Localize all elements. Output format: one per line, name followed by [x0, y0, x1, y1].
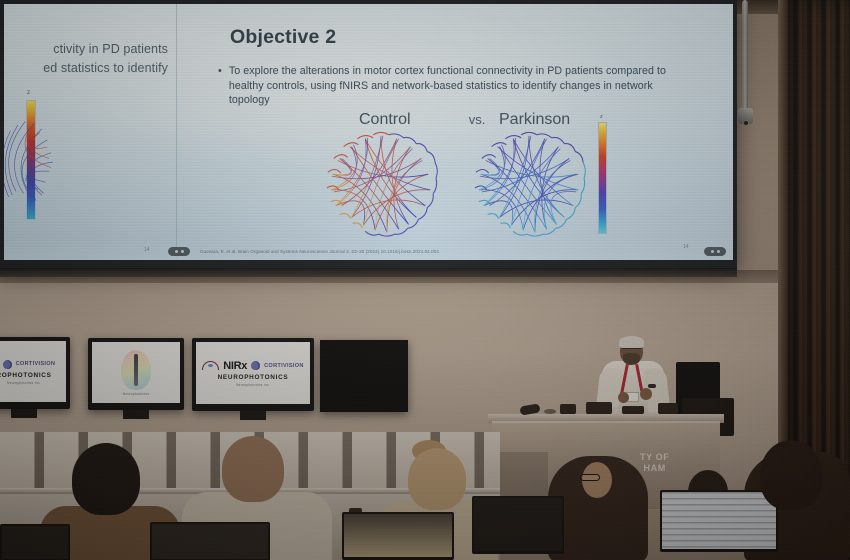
bullet-dot-icon: • — [218, 64, 222, 108]
monitor-right-brandrow: NIRx CORTIVISION — [202, 360, 304, 372]
slide-nav-prev-icon[interactable] — [168, 247, 190, 256]
monitor-left-panel: x CORTIVISION ROPHOTONICS Neurophotonics… — [0, 341, 66, 402]
label-parkinson: Parkinson — [499, 111, 589, 129]
monitor-right-caption: Neurophotonics Inc. — [236, 383, 270, 387]
audience-person-a-head — [72, 443, 140, 515]
colorbar-label: z — [600, 114, 603, 120]
colorbar-jet — [598, 122, 607, 234]
laptop-screen-faredge — [2, 526, 68, 559]
slide-bullet: • To explore the alterations in motor co… — [218, 64, 688, 108]
monitor-blank-dark — [320, 340, 408, 412]
nirx-logo-icon — [202, 361, 219, 370]
desk-cup — [612, 407, 619, 414]
monitor-right-neurophotonics: NEUROPHOTONICS — [218, 374, 289, 381]
slide-citation: Guevara, E. et al. Brain Organoid and Sy… — [200, 249, 439, 254]
monitor-center: Neurophotonics — [88, 338, 184, 410]
monitor-right-cortivision: CORTIVISION — [264, 363, 304, 369]
audience-person-c-head — [408, 448, 466, 510]
desk-device-1 — [560, 404, 576, 414]
presentation-slide: ctivity in PD patients ed statistics to … — [4, 4, 733, 260]
monitor-right-stand — [240, 411, 266, 420]
ghost-connectogram — [4, 114, 62, 210]
presenter-hand-right — [640, 388, 652, 400]
audience-laptop-midleft[interactable] — [342, 512, 454, 560]
projection-screen-frame: ctivity in PD patients ed statistics to … — [0, 0, 737, 268]
cortivision-brain-icon — [3, 360, 12, 369]
ghost-line-2: ed statistics to identify — [4, 59, 168, 78]
monitor-right-nirx: NIRx — [223, 360, 247, 372]
desk-cable-coil — [544, 409, 556, 414]
lecture-hall-photo: ctivity in PD patients ed statistics to … — [0, 0, 850, 560]
desk-device-4 — [658, 403, 678, 414]
brain-logo-icon — [121, 350, 151, 390]
presenter-watch — [648, 384, 656, 388]
connectogram-parkinson — [470, 130, 588, 240]
ghost-line-1: ctivity in PD patients — [4, 40, 168, 59]
slide-page-number-right: 14 — [683, 244, 689, 250]
label-control: Control — [359, 111, 455, 129]
slide-title: Objective 2 — [230, 26, 336, 49]
presenter-hand-left — [618, 392, 629, 403]
monitor-center-panel: Neurophotonics — [92, 342, 180, 403]
presenter-glasses-icon — [622, 348, 641, 352]
audience-laptop-faredge[interactable] — [0, 524, 70, 560]
monitor-center-caption: Neurophotonics — [123, 392, 150, 396]
slide-nav-next-icon[interactable] — [704, 247, 726, 256]
audience-laptop-left[interactable] — [150, 522, 270, 560]
desk-device-3 — [622, 406, 644, 414]
audience-laptop-center[interactable] — [472, 496, 564, 554]
connectogram-control — [322, 130, 440, 240]
laptop-screen-right — [662, 492, 776, 549]
cortivision-brain-icon — [251, 361, 260, 370]
monitor-left-cortivision: CORTIVISION — [16, 361, 56, 367]
laptop-screen-midleft — [344, 514, 452, 557]
comparison-labels: Control vs. Parkinson — [359, 111, 589, 129]
wall-signage-line2: HAM — [640, 463, 669, 474]
presenter-hair — [619, 336, 644, 348]
slide-ghost-divider — [176, 4, 177, 260]
connectogram-figures — [322, 130, 590, 240]
monitor-left-caption: Neurophotonics Inc. — [7, 381, 41, 385]
laptop-screen-center — [474, 498, 562, 551]
laptop-screen-left — [152, 524, 268, 559]
monitor-center-stand — [123, 410, 149, 419]
wall-signage-line1: TY OF — [640, 452, 669, 463]
desk-device-2 — [586, 402, 612, 414]
audience-laptop-right[interactable] — [660, 490, 778, 552]
monitor-left-neurophotonics: ROPHOTONICS — [0, 372, 52, 379]
camera-lens-icon — [743, 120, 749, 126]
slide-page-number-left: 14 — [144, 247, 150, 253]
monitor-left-stand — [11, 409, 37, 418]
wall-signage: TY OF HAM — [640, 452, 669, 474]
ghost-colorbar-label: z — [27, 90, 30, 96]
audience-person-d-glasses-icon — [580, 474, 600, 481]
monitor-right-panel: NIRx CORTIVISION NEUROPHOTONICS Neuropho… — [196, 342, 310, 404]
monitor-right: NIRx CORTIVISION NEUROPHOTONICS Neuropho… — [192, 338, 314, 411]
camera-pole — [742, 0, 748, 112]
audience-person-b-head — [222, 436, 284, 502]
label-vs: vs. — [455, 112, 499, 127]
monitor-left: x CORTIVISION ROPHOTONICS Neurophotonics… — [0, 337, 70, 409]
slide-bullet-text: To explore the alterations in motor cort… — [229, 64, 688, 108]
audience-person-e-head — [760, 440, 822, 510]
ghost-slide-overlay: ctivity in PD patients ed statistics to … — [4, 40, 168, 79]
monitor-left-brandrow: x CORTIVISION — [0, 358, 55, 370]
